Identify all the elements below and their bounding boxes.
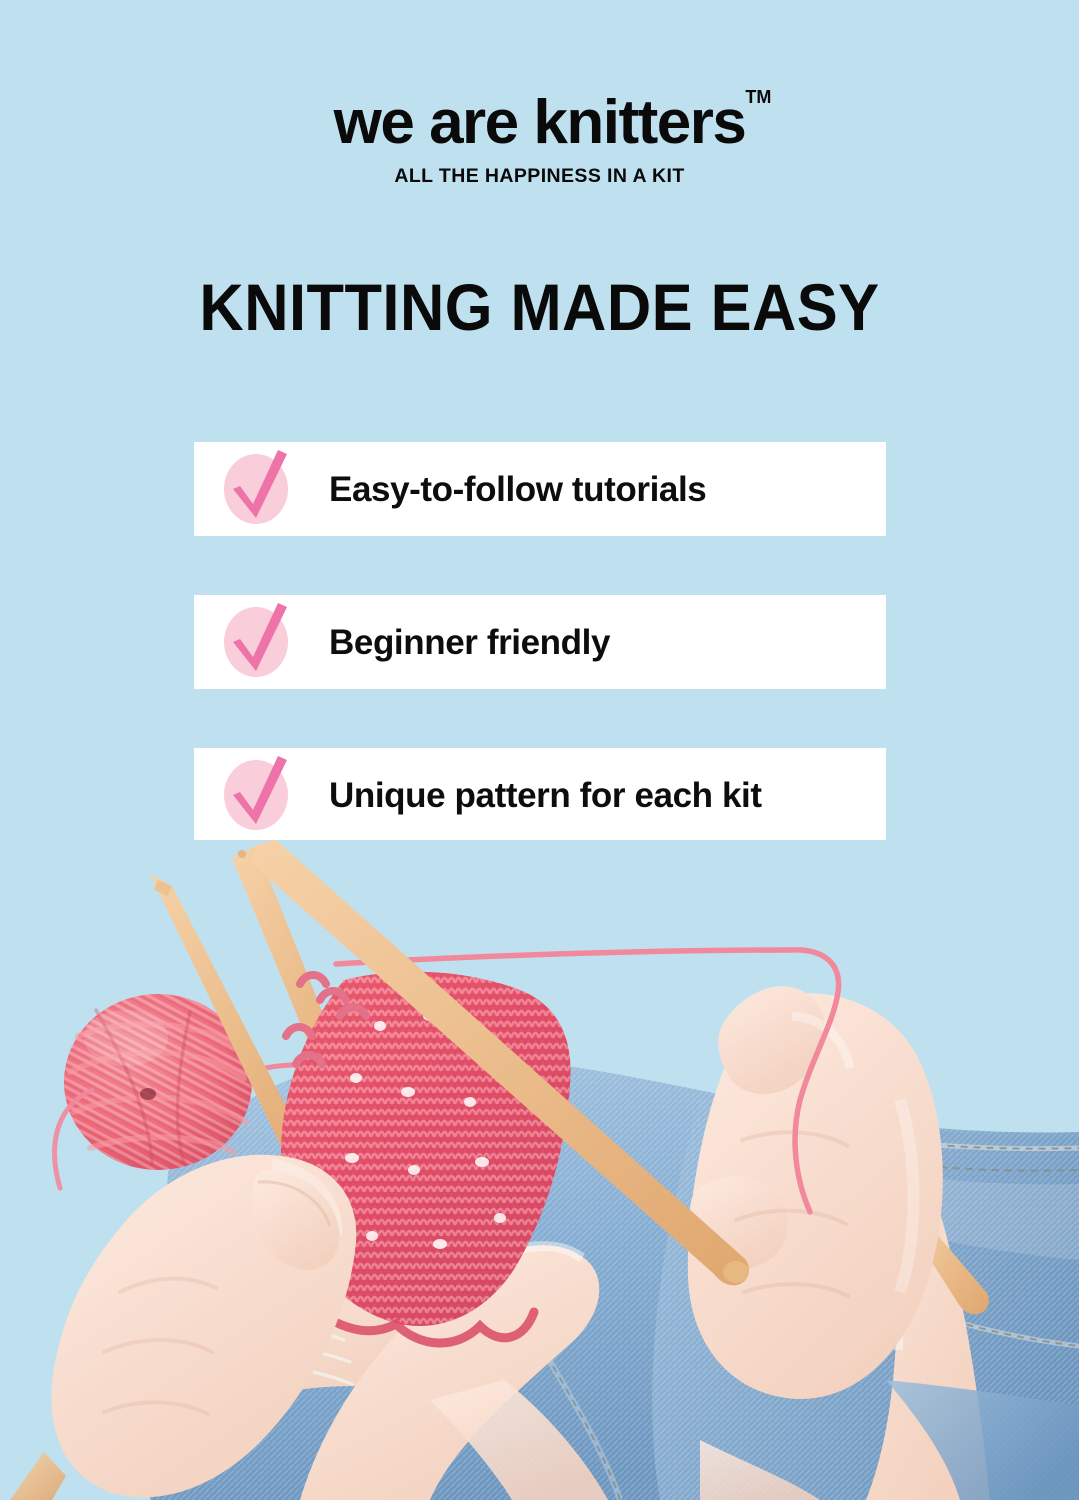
photo-illustration xyxy=(0,840,1079,1500)
feature-card-tutorials: Easy-to-follow tutorials xyxy=(194,442,886,536)
check-icon xyxy=(220,595,296,689)
feature-card-beginner: Beginner friendly xyxy=(194,595,886,689)
brand-tagline: ALL THE HAPPINESS IN A KIT xyxy=(0,167,1079,187)
feature-list: Easy-to-follow tutorials Beginner friend… xyxy=(194,442,886,842)
page-title: KNITTING MADE EASY xyxy=(38,274,1041,340)
feature-card-pattern: Unique pattern for each kit xyxy=(194,748,886,842)
brand-header: we are knittersTM ALL THE HAPPINESS IN A… xyxy=(0,92,1079,187)
feature-label: Unique pattern for each kit xyxy=(329,778,762,813)
brand-wordmark: we are knittersTM xyxy=(334,92,746,154)
feature-label: Beginner friendly xyxy=(329,625,610,660)
trademark-symbol: TM xyxy=(745,88,771,106)
check-icon xyxy=(220,442,296,536)
brand-name: we are knitters xyxy=(334,88,746,157)
check-icon xyxy=(220,748,296,842)
feature-label: Easy-to-follow tutorials xyxy=(329,472,706,507)
hero-photo xyxy=(0,840,1079,1500)
poster-canvas: we are knittersTM ALL THE HAPPINESS IN A… xyxy=(0,0,1079,1500)
